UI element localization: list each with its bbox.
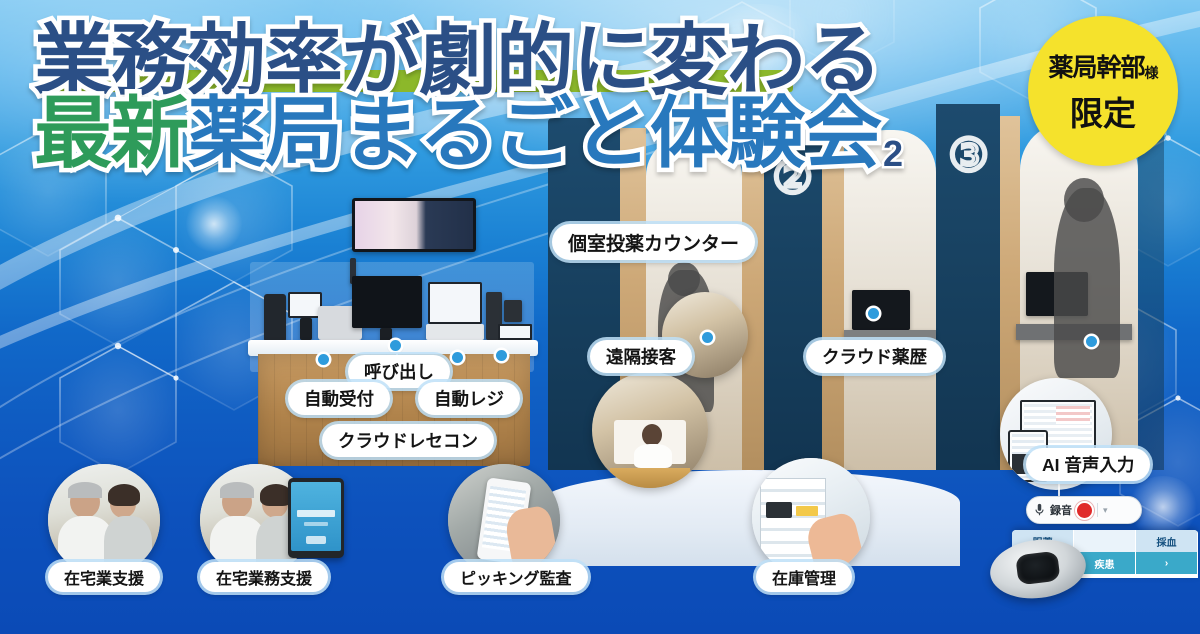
photo-home-care-support <box>48 464 160 576</box>
headline-block: 業務効率が劇的に変わる 最新薬局まるごと体験会2 <box>34 22 902 172</box>
label-remote-service[interactable]: 遠隔接客 <box>590 340 692 373</box>
headline-line-one: 業務効率が劇的に変わる <box>34 22 881 98</box>
label-picking-audit[interactable]: ピッキング監査 <box>444 562 588 592</box>
tablet-next-arrow[interactable]: › <box>1136 552 1198 574</box>
booth-wall-far <box>1138 120 1164 470</box>
photo-inventory-management <box>752 458 870 576</box>
microphone-icon <box>1034 503 1045 517</box>
register-base <box>426 324 484 340</box>
pharmacist-torso <box>634 444 672 468</box>
record-button[interactable] <box>1077 503 1092 518</box>
hotspot-dot-reception[interactable] <box>318 354 329 365</box>
label-home-care-support[interactable]: 在宅業支援 <box>48 562 160 592</box>
photo-picking-audit <box>448 464 560 576</box>
customer-head <box>1064 178 1104 222</box>
booth-two-monitor <box>852 290 910 330</box>
headline-green-part: 最新 <box>34 89 188 177</box>
label-auto-reception[interactable]: 自動受付 <box>288 382 390 415</box>
headline-blue-part: 薬局まるごと体験会 <box>188 89 881 177</box>
label-cloud-medication-history[interactable]: クラウド薬歴 <box>806 340 943 373</box>
limited-badge: 薬局幹部様 限定 <box>1028 16 1178 166</box>
register-screen <box>428 282 482 324</box>
reception-stand <box>300 318 312 340</box>
seated-head <box>668 262 700 296</box>
chevron-down-icon[interactable]: ▾ <box>1103 505 1108 516</box>
label-ai-voice-input[interactable]: AI 音声入力 <box>1026 448 1150 481</box>
promo-banner: ② ③ <box>0 0 1200 634</box>
tablet-cell-blood[interactable]: 採血 <box>1136 530 1198 552</box>
label-inventory-management[interactable]: 在庫管理 <box>756 562 852 592</box>
hotspot-dot-register[interactable] <box>452 352 463 363</box>
tablet-device-overlay <box>288 478 344 558</box>
badge-honorific: 様 <box>1145 65 1158 81</box>
booth-wood-mid <box>742 128 764 470</box>
digital-signage-display <box>352 198 476 252</box>
kiosk-tablet <box>264 294 286 342</box>
badge-top-line: 薬局幹部様 <box>1048 48 1157 84</box>
booth-number-three: ③ <box>948 128 989 182</box>
hotspot-dot-remote[interactable] <box>702 332 713 343</box>
label-private-counter[interactable]: 個室投薬カウンター <box>552 224 755 260</box>
tablet-cell-blank[interactable] <box>1074 530 1136 552</box>
reception-screen <box>288 292 322 318</box>
booth-floor <box>540 470 960 566</box>
main-monitor <box>352 276 422 328</box>
badge-main-text: 薬局幹部 <box>1048 54 1144 82</box>
hotspot-dot-rezecon[interactable] <box>496 350 507 361</box>
label-home-work-support[interactable]: 在宅業務支援 <box>200 562 328 592</box>
card-terminal <box>504 300 522 322</box>
voice-record-label: 録音 <box>1050 502 1072 518</box>
payment-screen <box>498 324 532 340</box>
divider <box>1097 503 1098 517</box>
headline-line-two: 最新薬局まるごと体験会2 <box>34 94 902 172</box>
voice-record-widget[interactable]: 録音 ▾ <box>1026 496 1142 524</box>
badge-bottom-line: 限定 <box>1070 87 1136 135</box>
label-auto-register[interactable]: 自動レジ <box>418 382 520 415</box>
photo-remote-service-lower <box>592 372 708 488</box>
label-cloud-rezecon[interactable]: クラウドレセコン <box>322 424 494 457</box>
pharmacist-head <box>642 424 662 446</box>
hotspot-dot-cloud-history[interactable] <box>868 308 879 319</box>
hotspot-dot-call[interactable] <box>390 340 401 351</box>
headline-superscript: 2 <box>883 133 902 174</box>
hotspot-dot-ai-voice[interactable] <box>1086 336 1097 347</box>
